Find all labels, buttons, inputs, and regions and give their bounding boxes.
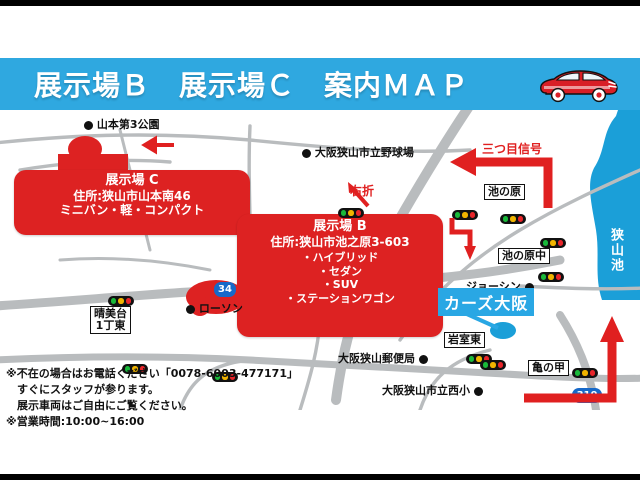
traffic-signal-icon: [108, 296, 134, 306]
callout-b-item-2: ・SUV: [237, 278, 443, 291]
poi-label: ローソン: [199, 302, 243, 315]
intersection-harumidai: 晴美台1丁東: [90, 306, 131, 334]
poi-nishi-elementary: 大阪狭山市立西小: [382, 382, 483, 398]
traffic-signal-icon: [338, 208, 364, 218]
callout-b-item-3: ・ステーションワゴン: [237, 292, 443, 305]
notes-block: ※不在の場合はお電話ください「0078-6003-477171」 すぐにスタッフ…: [6, 366, 326, 430]
route-shield-34: 34: [214, 282, 236, 297]
callout-c-categories: ミニバン・軽・コンパクト: [14, 203, 250, 218]
callout-b-item-1: ・セダン: [237, 265, 443, 278]
poi-dot: [474, 387, 483, 396]
poi-label: 大阪狭山市立野球場: [315, 146, 414, 159]
traffic-signal-icon: [538, 272, 564, 282]
poi-yamamoto-park: 山本第3公園: [84, 116, 160, 132]
intersection-iwamurohigashi: 岩室東: [444, 332, 485, 348]
note-line-1: ※不在の場合はお電話ください「0078-6003-477171」: [6, 366, 326, 382]
screenshot-root: 展示場Ｂ 展示場Ｃ 案内ＭＡＰ 狭山池: [0, 0, 640, 480]
callout-b-address: 住所:狭山市池之原3-603: [237, 235, 443, 250]
poi-dot: [84, 121, 93, 130]
note-line-4: ※営業時間:10:00~16:00: [6, 414, 326, 430]
traffic-signal-icon: [500, 214, 526, 224]
poi-post-office: 大阪狭山郵便局: [338, 350, 428, 366]
direction-right-turn: 右折: [350, 182, 374, 199]
page-title: 展示場Ｂ 展示場Ｃ 案内ＭＡＰ: [34, 66, 534, 106]
traffic-signal-icon: [572, 368, 598, 378]
poi-label: 大阪狭山郵便局: [338, 352, 415, 365]
intersection-kamenoko: 亀の甲: [528, 360, 569, 376]
callout-exhibit-b[interactable]: 展示場 B 住所:狭山市池之原3-603 ・ハイブリッド ・セダン ・SUV ・…: [237, 214, 443, 337]
callout-c-address: 住所:狭山市山本南46: [14, 189, 250, 204]
poi-lawson: ローソン: [186, 300, 243, 316]
red-car-icon: [536, 66, 622, 106]
intersection-ikenoharanaka: 池の原中: [498, 248, 550, 264]
note-line-2: すぐにスタッフが参ります。: [6, 382, 326, 398]
traffic-signal-icon: [480, 360, 506, 370]
traffic-signal-icon: [540, 238, 566, 248]
poi-dot: [419, 355, 428, 364]
traffic-signal-icon: [452, 210, 478, 220]
poi-label: 大阪狭山市立西小: [382, 384, 470, 397]
poi-baseball-stadium: 大阪狭山市立野球場: [302, 144, 414, 160]
poi-dot: [302, 149, 311, 158]
intersection-ikenohara: 池の原: [484, 184, 525, 200]
direction-third-signal: 三つ目信号: [482, 140, 542, 157]
callout-exhibit-c[interactable]: 展示場 C 住所:狭山市山本南46 ミニバン・軽・コンパクト: [14, 170, 250, 235]
poi-dot: [186, 305, 195, 314]
route-shield-310: 310: [572, 388, 602, 403]
shop-name-box[interactable]: カーズ大阪: [438, 288, 534, 316]
callout-b-item-0: ・ハイブリッド: [237, 251, 443, 264]
poi-label: 山本第3公園: [97, 118, 160, 131]
flyer-page: 展示場Ｂ 展示場Ｃ 案内ＭＡＰ 狭山池: [0, 6, 640, 474]
callout-c-name: 展示場 C: [14, 173, 250, 189]
callout-b-name: 展示場 B: [237, 219, 443, 235]
note-line-3: 展示車両はご自由にご覧ください。: [6, 398, 326, 414]
map-canvas: 狭山池: [0, 110, 640, 410]
